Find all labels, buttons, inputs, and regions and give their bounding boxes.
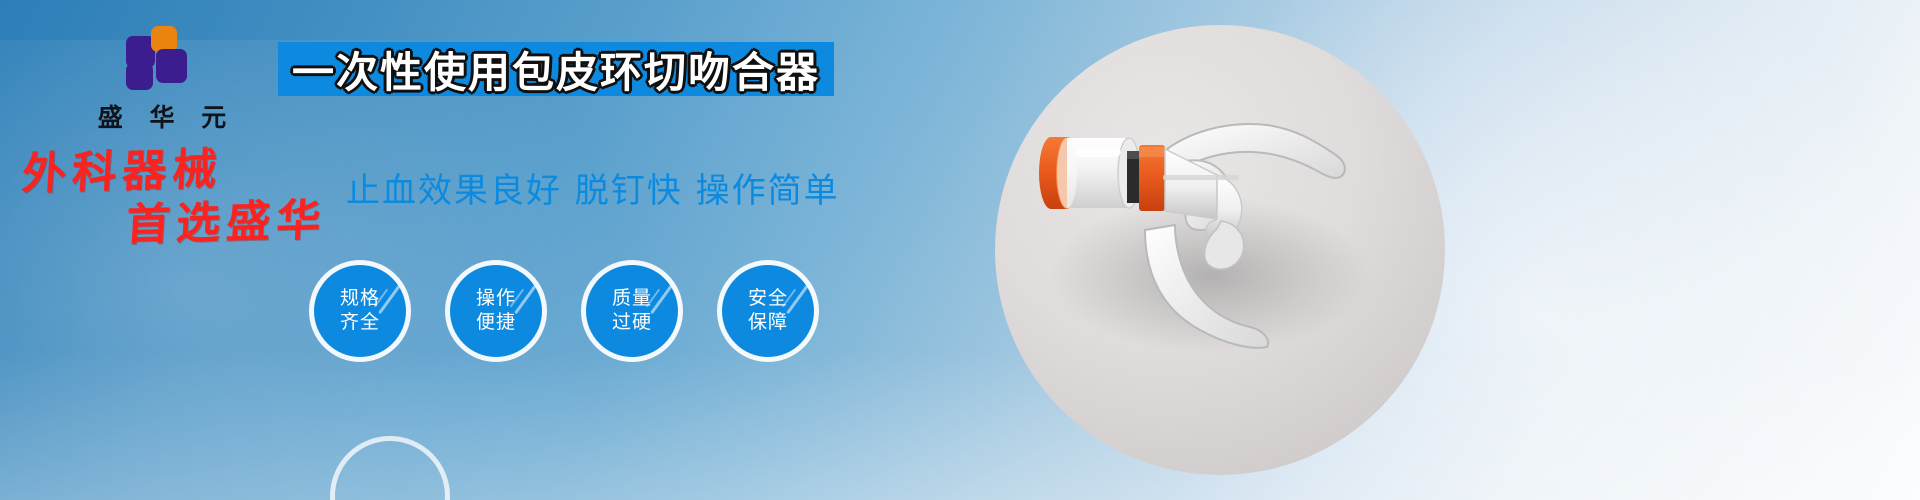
gloss-highlight-icon	[786, 282, 811, 315]
brand-logo-icon	[126, 26, 198, 92]
feature-badge-specifications[interactable]: 规格 齐全	[314, 265, 406, 357]
feature-badge-line-1: 质量	[612, 287, 652, 311]
decorative-circle-outline	[330, 436, 450, 500]
promo-banner: 盛 华 元 外科器械 首选盛华 一次性使用包皮环切吻合器 止血效果良好 脱钉快 …	[0, 0, 1920, 500]
feature-badge-operation[interactable]: 操作 便捷	[450, 265, 542, 357]
gloss-highlight-icon	[514, 282, 539, 315]
feature-badge-safety[interactable]: 安全 保障	[722, 265, 814, 357]
circumcision-stapler-illustration	[995, 25, 1445, 475]
feature-badge-quality[interactable]: 质量 过硬	[586, 265, 678, 357]
brand-name: 盛 华 元	[62, 98, 262, 134]
gloss-highlight-icon	[378, 282, 403, 315]
feature-badge-line-1: 规格	[340, 287, 380, 311]
feature-badge-list: 规格 齐全 操作 便捷 质量 过硬 安全 保障	[314, 265, 814, 357]
feature-badge-line-1: 操作	[476, 287, 516, 311]
product-photo	[995, 25, 1445, 475]
feature-badge-line-2: 便捷	[476, 311, 516, 335]
feature-badge-line-2: 齐全	[340, 311, 380, 335]
product-subtitle: 止血效果良好 脱钉快 操作简单	[346, 163, 840, 212]
background-bottom-fade	[0, 350, 1920, 500]
product-title: 一次性使用包皮环切吻合器	[292, 39, 820, 100]
feature-badge-line-2: 保障	[748, 311, 788, 335]
product-title-bar: 一次性使用包皮环切吻合器	[278, 42, 834, 96]
feature-badge-line-1: 安全	[748, 287, 788, 311]
gloss-highlight-icon	[650, 282, 675, 315]
feature-badge-line-2: 过硬	[612, 311, 652, 335]
brand-logo: 盛 华 元	[62, 26, 262, 134]
